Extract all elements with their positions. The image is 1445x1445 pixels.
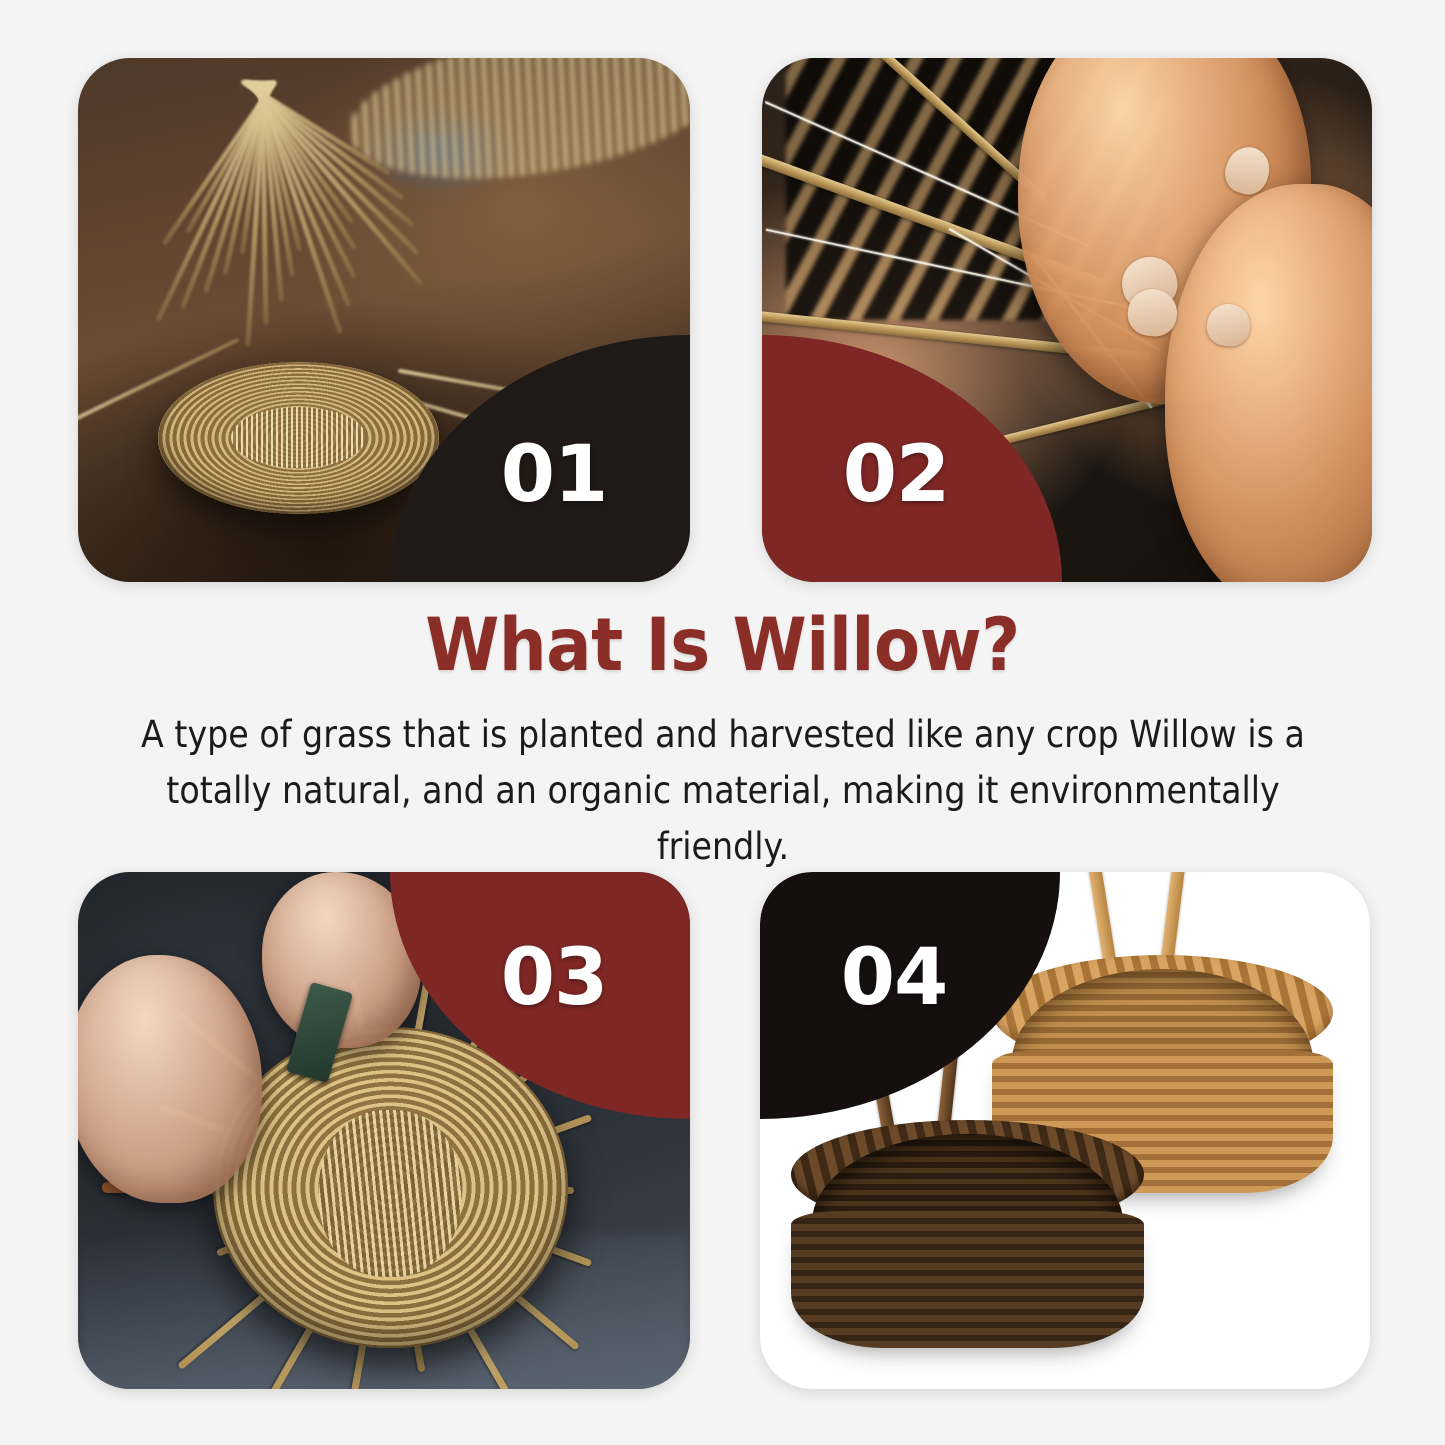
text-block: What Is Willow? A type of grass that is … [0,608,1445,875]
card-03[interactable]: 03 [78,872,690,1389]
willow-infographic: 01 02 [0,0,1445,1445]
step-number-label: 02 [843,436,950,514]
wicker-basket-dark [791,1120,1145,1347]
step-number-label: 01 [501,436,608,514]
step-number-label: 04 [841,939,948,1017]
card-02[interactable]: 02 [762,58,1372,582]
card-01[interactable]: 01 [78,58,690,582]
basket-body-dark [791,1211,1145,1347]
description-paragraph: A type of grass that is planted and harv… [129,707,1317,876]
step-number-label: 03 [501,939,608,1017]
woven-basket-base [158,362,440,514]
willow-rod-fan [78,68,457,393]
woven-disc [213,1027,568,1348]
page-title: What Is Willow? [58,608,1387,685]
card-04[interactable]: 04 [760,872,1370,1389]
